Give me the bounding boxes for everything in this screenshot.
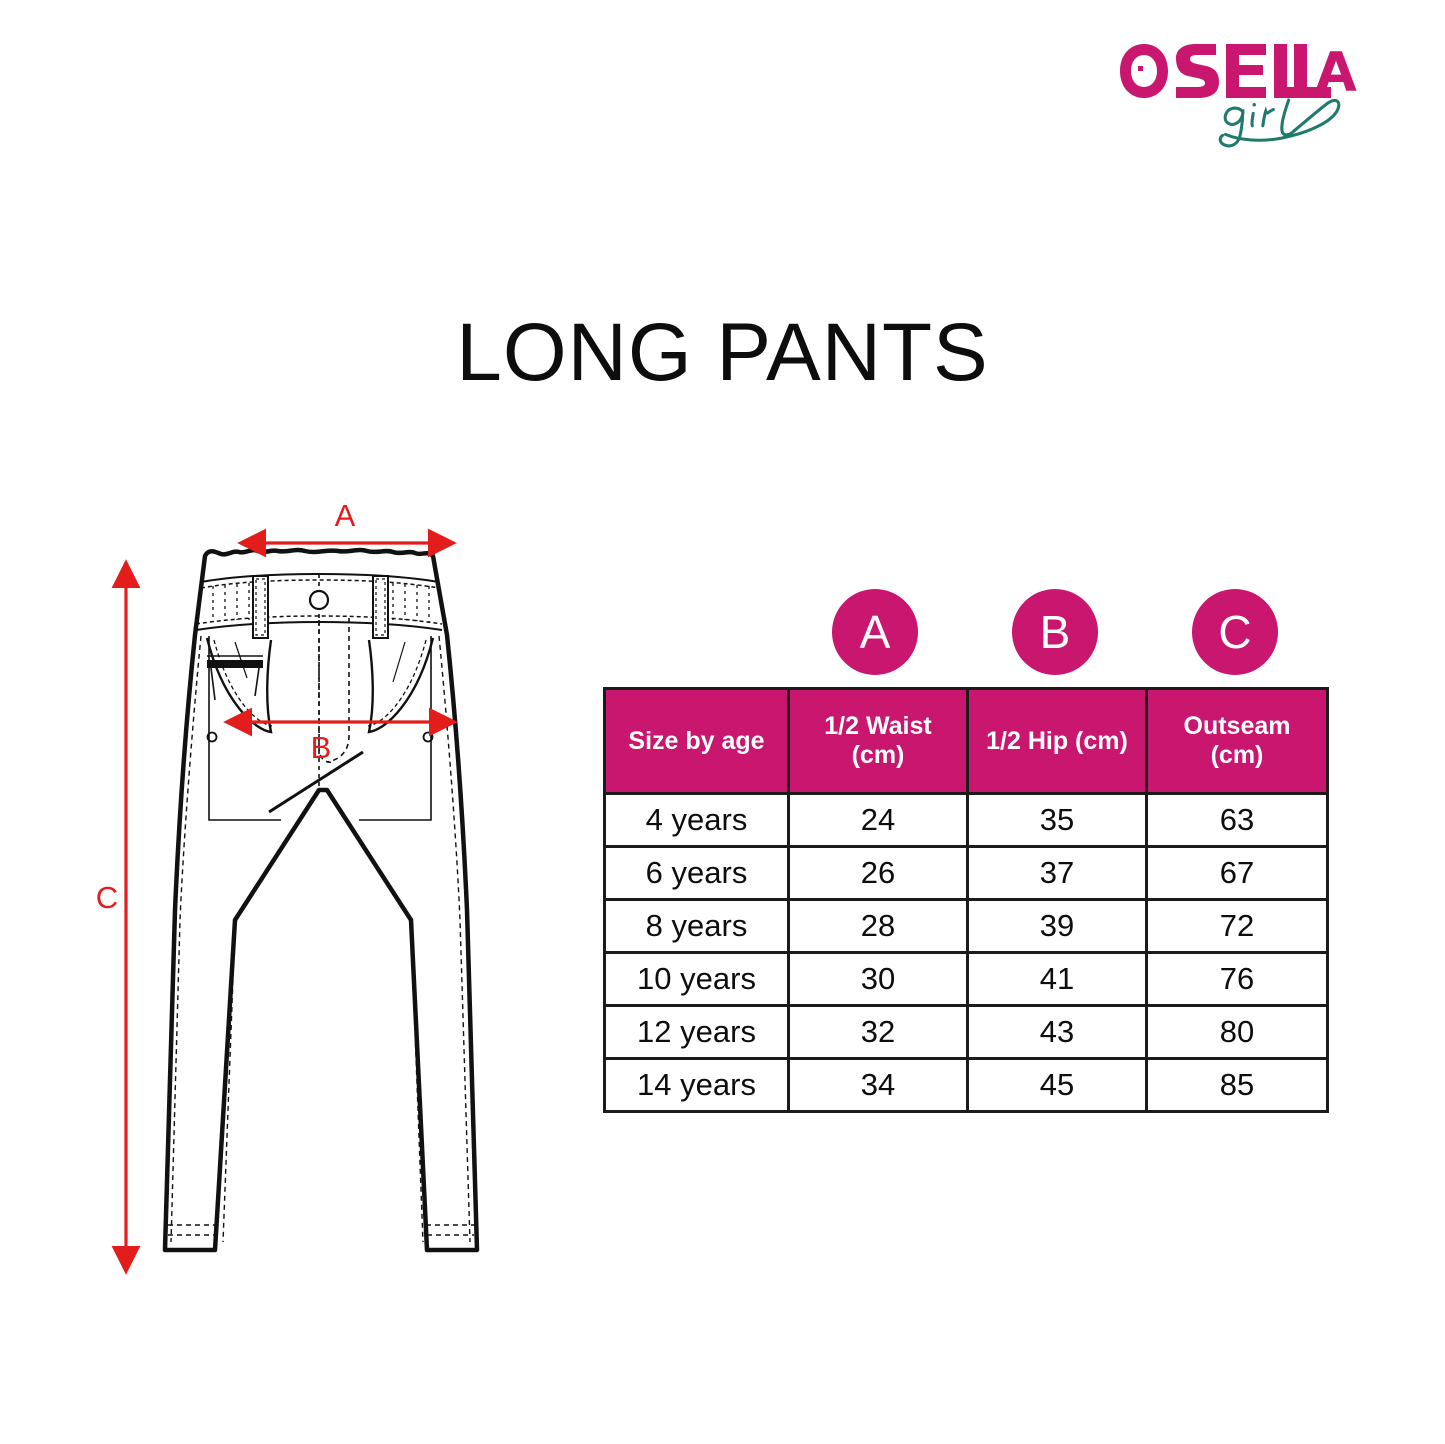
cell-waist: 24 bbox=[789, 794, 968, 847]
table-row: 10 years 30 41 76 bbox=[605, 953, 1328, 1006]
size-table: Size by age 1/2 Waist (cm) 1/2 Hip (cm) … bbox=[603, 687, 1329, 1113]
cell-outseam: 80 bbox=[1147, 1006, 1328, 1059]
cell-size: 8 years bbox=[605, 900, 789, 953]
leg-stitching bbox=[223, 926, 423, 1242]
brand-logo bbox=[1118, 40, 1348, 150]
cell-size: 4 years bbox=[605, 794, 789, 847]
cell-hip: 39 bbox=[968, 900, 1147, 953]
cell-outseam: 76 bbox=[1147, 953, 1328, 1006]
cell-waist: 26 bbox=[789, 847, 968, 900]
cell-hip: 45 bbox=[968, 1059, 1147, 1112]
cell-waist: 28 bbox=[789, 900, 968, 953]
table-row: 8 years 28 39 72 bbox=[605, 900, 1328, 953]
table-header-row: Size by age 1/2 Waist (cm) 1/2 Hip (cm) … bbox=[605, 689, 1328, 794]
column-header-outseam: Outseam (cm) bbox=[1147, 689, 1328, 794]
cell-outseam: 72 bbox=[1147, 900, 1328, 953]
table-row: 12 years 32 43 80 bbox=[605, 1006, 1328, 1059]
table-row: 14 years 34 45 85 bbox=[605, 1059, 1328, 1112]
cell-waist: 34 bbox=[789, 1059, 968, 1112]
measure-label-b: B bbox=[311, 730, 332, 765]
cell-hip: 37 bbox=[968, 847, 1147, 900]
cell-waist: 32 bbox=[789, 1006, 968, 1059]
pants-technical-drawing: A B C bbox=[95, 490, 525, 1300]
cell-hip: 43 bbox=[968, 1006, 1147, 1059]
size-table-container: Size by age 1/2 Waist (cm) 1/2 Hip (cm) … bbox=[603, 687, 1326, 1113]
cell-outseam: 63 bbox=[1147, 794, 1328, 847]
column-header-waist: 1/2 Waist (cm) bbox=[789, 689, 968, 794]
cell-outseam: 67 bbox=[1147, 847, 1328, 900]
column-badge-c: C bbox=[1192, 589, 1278, 675]
cell-outseam: 85 bbox=[1147, 1059, 1328, 1112]
girl-script-icon bbox=[1214, 92, 1348, 150]
cell-size: 12 years bbox=[605, 1006, 789, 1059]
cell-size: 6 years bbox=[605, 847, 789, 900]
measure-label-a: A bbox=[335, 498, 356, 533]
measure-label-c: C bbox=[96, 880, 118, 915]
column-badge-b: B bbox=[1012, 589, 1098, 675]
cell-waist: 30 bbox=[789, 953, 968, 1006]
column-badge-a: A bbox=[832, 589, 918, 675]
cell-size: 14 years bbox=[605, 1059, 789, 1112]
column-header-size: Size by age bbox=[605, 689, 789, 794]
page-title: LONG PANTS bbox=[0, 312, 1445, 394]
cell-size: 10 years bbox=[605, 953, 789, 1006]
table-row: 4 years 24 35 63 bbox=[605, 794, 1328, 847]
column-header-hip: 1/2 Hip (cm) bbox=[968, 689, 1147, 794]
cell-hip: 35 bbox=[968, 794, 1147, 847]
cell-hip: 41 bbox=[968, 953, 1147, 1006]
waist-button-icon bbox=[310, 591, 328, 609]
table-row: 6 years 26 37 67 bbox=[605, 847, 1328, 900]
size-chart-page: LONG PANTS bbox=[0, 0, 1445, 1444]
